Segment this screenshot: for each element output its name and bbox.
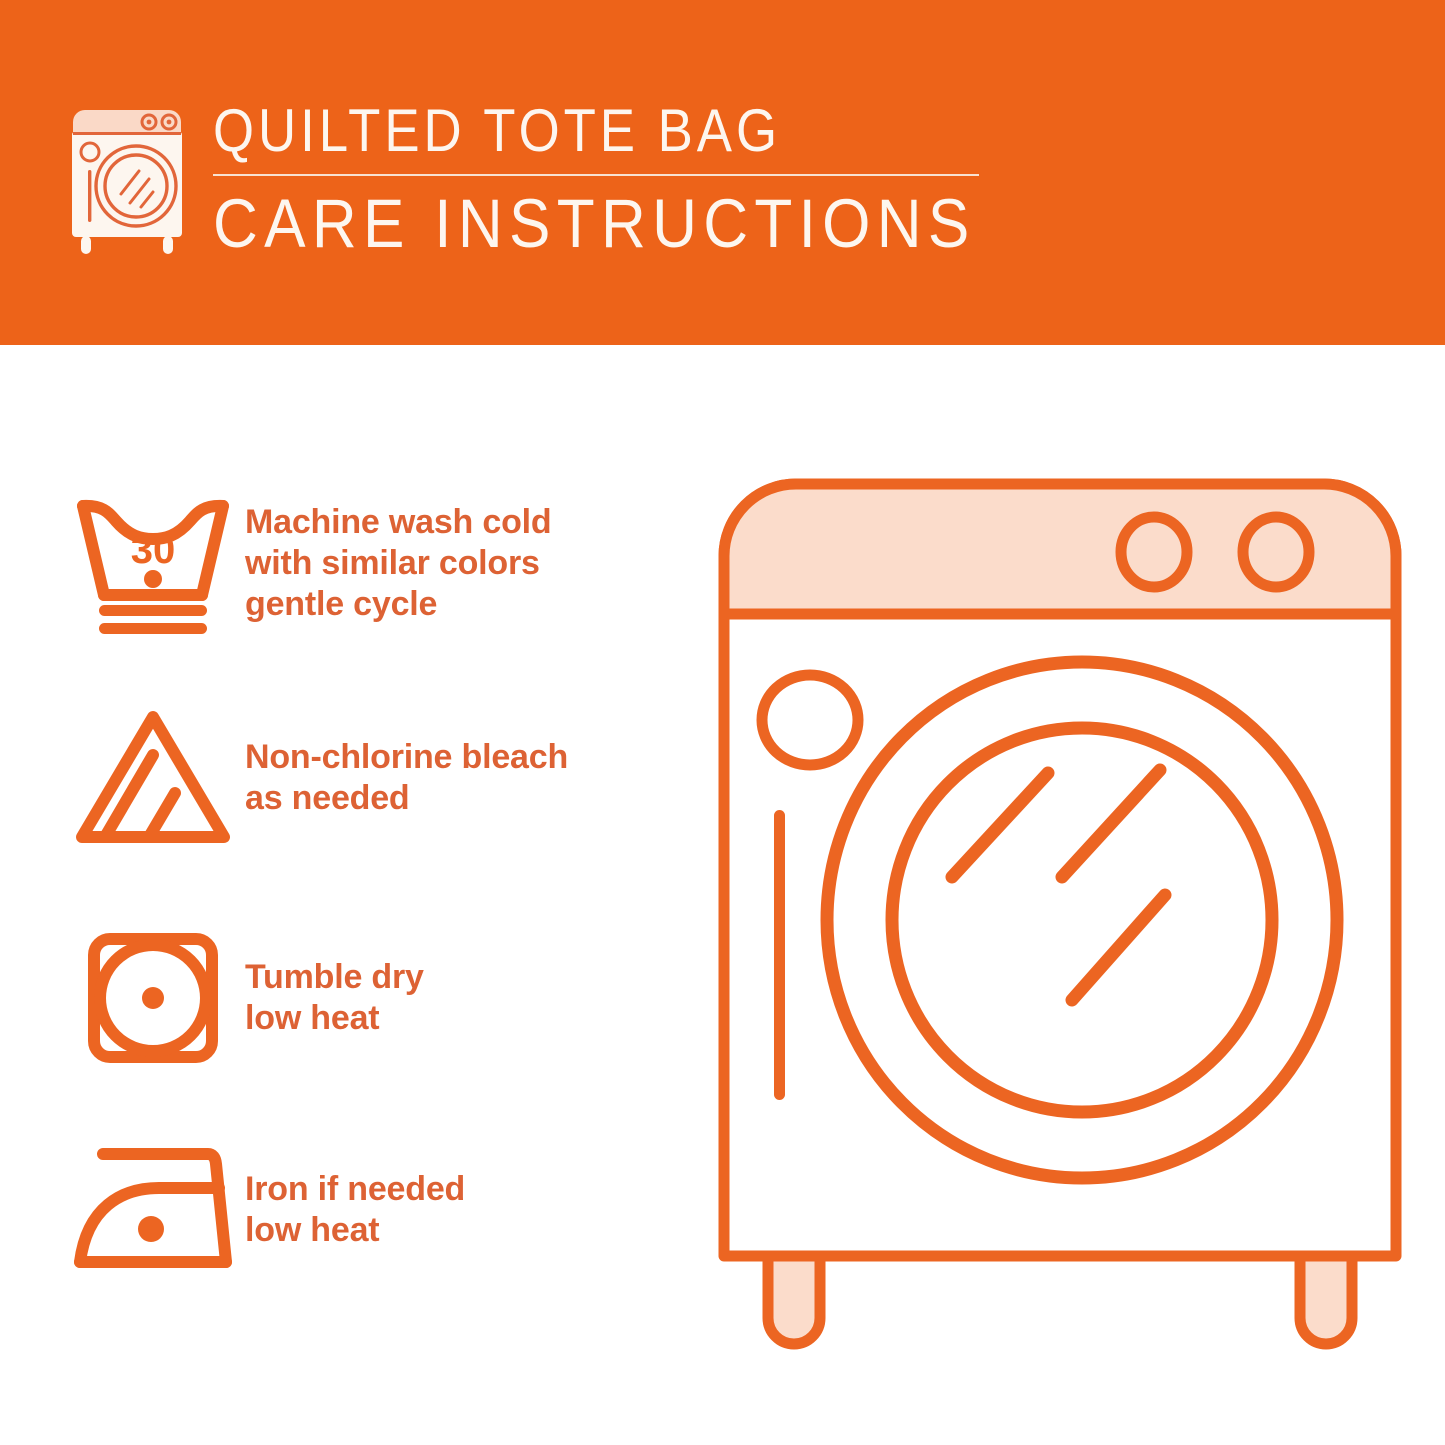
- non-chlorine-bleach-triangle-icon: [60, 703, 245, 853]
- care-item-label: Tumble dry low heat: [245, 957, 680, 1039]
- washing-machine-icon: [63, 100, 191, 260]
- care-item-tumble-dry: Tumble dry low heat: [60, 918, 680, 1078]
- care-instructions-page: QUILTED TOTE BAG CARE INSTRUCTIONS: [0, 0, 1445, 1445]
- care-item-label: Machine wash cold with similar colors ge…: [245, 502, 680, 625]
- care-line: Tumble dry: [245, 957, 680, 998]
- machine-wash-tub-icon: 30: [60, 483, 245, 643]
- care-line: with similar colors: [245, 543, 680, 584]
- care-line: low heat: [245, 1210, 680, 1251]
- header-text-block: QUILTED TOTE BAG CARE INSTRUCTIONS: [213, 96, 1003, 263]
- leg-right: [1300, 1250, 1352, 1344]
- care-line: low heat: [245, 998, 680, 1039]
- control-panel: [724, 484, 1396, 614]
- care-item-label: Iron if needed low heat: [245, 1169, 680, 1251]
- care-line: gentle cycle: [245, 584, 680, 625]
- page-subtitle: CARE INSTRUCTIONS: [213, 185, 924, 263]
- care-item-label: Non-chlorine bleach as needed: [245, 737, 680, 819]
- door-handle-bar: [774, 810, 785, 1100]
- care-line: as needed: [245, 778, 680, 819]
- care-line: Iron if needed: [245, 1169, 680, 1210]
- care-line: Machine wash cold: [245, 502, 680, 543]
- washing-machine-illustration: [710, 470, 1410, 1370]
- tumble-dry-icon: [60, 918, 245, 1078]
- wash-temperature-label: 30: [130, 528, 175, 572]
- care-item-iron: Iron if needed low heat: [60, 1140, 680, 1280]
- page-title: QUILTED TOTE BAG: [213, 96, 908, 166]
- care-item-bleach: Non-chlorine bleach as needed: [60, 703, 680, 853]
- care-line: Non-chlorine bleach: [245, 737, 680, 778]
- header-band: QUILTED TOTE BAG CARE INSTRUCTIONS: [0, 0, 1445, 345]
- care-instructions-list: 30 Machine wash cold with similar colors…: [0, 345, 700, 1445]
- leg-left: [768, 1250, 820, 1344]
- iron-icon: [60, 1140, 245, 1280]
- title-divider: [213, 174, 979, 176]
- care-item-machine-wash: 30 Machine wash cold with similar colors…: [60, 483, 680, 643]
